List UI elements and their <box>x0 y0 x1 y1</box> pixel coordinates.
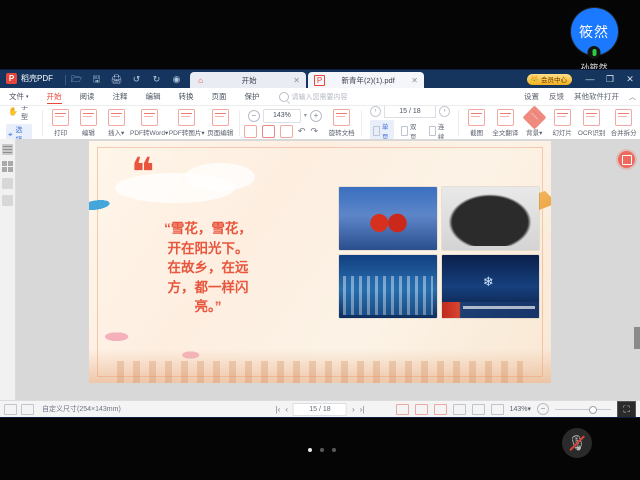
menu-item-read-label: 阅读 <box>80 91 95 102</box>
photo-snowflake-ceremony-news: ❄ <box>442 255 540 318</box>
reading-view-icon[interactable] <box>472 404 485 415</box>
menu-item-convert[interactable]: 转换 <box>170 88 203 105</box>
tool-print[interactable]: 打印 <box>47 109 75 137</box>
menu-item-read[interactable]: 阅读 <box>71 88 104 105</box>
menu-feedback[interactable]: 反馈 <box>549 91 564 102</box>
tool-screenshot-label: 截图 <box>470 127 483 137</box>
photo-group-formation-bw <box>442 187 540 250</box>
fit-width-icon[interactable] <box>21 404 34 415</box>
tool-merge-split-label: 合并拆分 <box>611 127 637 137</box>
menu-item-annotate-label: 注释 <box>113 91 128 102</box>
tab-strip: ⌂ 开始 ✕ P 新青年(2)(1).pdf ✕ <box>190 72 426 88</box>
menu-item-edit[interactable]: 编辑 <box>137 88 170 105</box>
photo-mascot-performance <box>339 187 437 250</box>
avatar-mic-icon <box>588 46 601 59</box>
quote-mark-icon: ❝ <box>131 153 152 193</box>
tool-merge-split[interactable]: 合并拆分 <box>607 109 640 137</box>
tool-slideshow[interactable]: 幻灯片 <box>548 109 576 137</box>
tool-pdf-to-word[interactable]: PDF转Word▾ <box>130 109 168 137</box>
pdf-page[interactable]: ❝ “雪花，雪花， 开在阳光下。 在故乡，在远 方，都一样闪 亮。” <box>89 141 551 383</box>
tool-page-edit-label: 页面编辑 <box>207 127 233 137</box>
tool-pdf-to-word-label: PDF转Word▾ <box>130 127 168 137</box>
tool-translate[interactable]: 全文翻译 <box>490 109 520 137</box>
pdf-to-word-icon <box>141 109 158 126</box>
photo-grid: ❄ <box>339 187 539 318</box>
participant-tile[interactable]: 筱然 孙筱然 <box>558 8 630 74</box>
tool-ocr-label: OCR识别 <box>578 127 605 137</box>
two-page-icon[interactable] <box>491 404 504 415</box>
menu-item-protect[interactable]: 保护 <box>236 88 269 105</box>
microphone-muted-icon: 🎙 <box>567 436 586 451</box>
rotate-cw-icon[interactable]: ↷ <box>310 126 318 137</box>
cloud-decoration <box>185 163 255 191</box>
status-bar: 自定义尺寸(254×143mm) |‹ ‹ 15 / 18 › ›| 143%▾… <box>0 400 640 417</box>
vip-label: 会员中心 <box>541 74 567 84</box>
window-right-group: 👑 会员中心 — ❐ ✕ <box>527 70 640 88</box>
menu-right-group: 设置 反馈 其他软件打开 ︿ <box>524 91 636 102</box>
rotate-doc-icon <box>333 109 350 126</box>
poem-line: 方，都一样闪 <box>141 278 275 298</box>
annotations-icon[interactable] <box>2 178 13 189</box>
chevron-up-icon[interactable]: ︿ <box>629 92 636 102</box>
tool-print-label: 打印 <box>54 127 67 137</box>
next-page-button[interactable]: › <box>352 405 355 414</box>
menu-item-convert-label: 转换 <box>179 91 194 102</box>
app-logo-icon: P <box>6 73 17 84</box>
pagination-dot[interactable] <box>332 448 336 452</box>
status-zoom-out-button[interactable]: − <box>537 403 549 415</box>
tool-translate-label: 全文翻译 <box>492 127 518 137</box>
pink-bird-icon <box>103 329 137 343</box>
avatar-initials: 筱然 <box>579 22 609 42</box>
menu-item-protect-label: 保护 <box>245 91 260 102</box>
search-input[interactable]: 请输入您需要内容 <box>279 92 348 102</box>
page-number-input[interactable]: 15 / 18 <box>384 105 436 118</box>
poem-line: 亮。” <box>141 297 275 317</box>
fullscreen-icon[interactable]: ⛶ <box>617 401 636 418</box>
status-page-nav: |‹ ‹ 15 / 18 › ›| <box>276 403 365 416</box>
crop-view-icon[interactable] <box>434 404 447 415</box>
fit-page-icon[interactable] <box>4 404 17 415</box>
zoom-out-button[interactable]: − <box>248 110 260 122</box>
toolbar-divider <box>42 110 43 136</box>
save-as-fab[interactable] <box>618 151 635 168</box>
tab-close-icon[interactable]: ✕ <box>293 76 300 85</box>
tool-rotate-document-label: 旋转文档 <box>329 127 355 137</box>
chevron-down-icon[interactable]: ▾ <box>304 112 307 119</box>
vertical-scrollbar[interactable] <box>634 327 640 349</box>
ocr-icon <box>583 109 600 126</box>
tab-document-label: 新青年(2)(1).pdf <box>329 75 407 86</box>
search-icon <box>279 92 289 102</box>
last-page-button[interactable]: ›| <box>360 405 365 414</box>
title-bar: P 稻壳PDF 🗁 🖫 🖨 ↺ ↻ ◉ ⌂ 开始 ✕ P <box>0 70 640 88</box>
document-work-area: ❝ “雪花，雪花， 开在阳光下。 在故乡，在远 方，都一样闪 亮。” <box>0 139 640 401</box>
view-mode-continuous-label: 连续 <box>438 121 447 141</box>
tab-home[interactable]: ⌂ 开始 ✕ <box>190 72 306 88</box>
search-placeholder: 请输入您需要内容 <box>292 92 348 102</box>
menu-item-start[interactable]: 开始 <box>38 88 71 105</box>
pagination-dot[interactable] <box>308 448 312 452</box>
photo-choir-blue-stage <box>339 255 437 318</box>
cursor-select-icon: ⌖ <box>8 130 13 140</box>
titlebar-divider <box>65 75 66 85</box>
close-button[interactable]: ✕ <box>620 70 640 88</box>
translate-icon <box>497 109 514 126</box>
menu-item-edit-label: 编辑 <box>146 91 161 102</box>
merge-split-icon <box>615 109 632 126</box>
tool-ocr[interactable]: OCR识别 <box>576 109 607 137</box>
tool-slideshow-label: 幻灯片 <box>552 127 572 137</box>
fit-view-icon[interactable] <box>453 404 466 415</box>
redo-icon[interactable]: ↻ <box>151 74 162 85</box>
menu-item-page[interactable]: 页面 <box>203 88 236 105</box>
page-nav: ‹ 15 / 18 › <box>370 105 450 118</box>
tool-page-edit[interactable]: 页面编辑 <box>205 109 235 137</box>
poem-text: “雪花，雪花， 开在阳光下。 在故乡，在远 方，都一样闪 亮。” <box>141 219 275 317</box>
page-size-label: 自定义尺寸(254×143mm) <box>42 404 121 414</box>
menu-item-file[interactable]: 文件 ▾ <box>0 88 38 105</box>
insert-icon <box>108 109 125 126</box>
hand-icon: ✋ <box>8 107 18 116</box>
view-mode-double-label: 双页 <box>410 121 419 141</box>
menu-settings[interactable]: 设置 <box>524 91 539 102</box>
zoom-in-button[interactable]: + <box>310 110 322 122</box>
tab-document[interactable]: P 新青年(2)(1).pdf ✕ <box>308 72 424 88</box>
toolbar-divider <box>458 110 459 136</box>
slideshow-icon <box>554 109 571 126</box>
save-icon <box>622 155 632 165</box>
single-page-icon <box>373 126 380 136</box>
zoom-value[interactable]: 143% <box>263 109 301 123</box>
microphone-muted-button[interactable]: 🎙 <box>562 428 592 458</box>
cloud-icon[interactable]: ◉ <box>171 74 182 85</box>
pagination-dot[interactable] <box>320 448 324 452</box>
rotate-ccw-icon[interactable]: ↶ <box>298 126 306 137</box>
zoom-controls: − 143% ▾ + <box>244 109 326 123</box>
toolbar-divider <box>239 110 240 136</box>
tool-edit[interactable]: 编辑 <box>74 109 102 137</box>
next-page-button[interactable]: › <box>439 106 450 117</box>
toolbar-divider <box>361 110 362 136</box>
screenshot-icon <box>468 109 485 126</box>
page-navigation-group: ‹ 15 / 18 › 单页 双页 连续 <box>366 105 454 142</box>
print-icon <box>52 109 69 126</box>
vip-center-button[interactable]: 👑 会员中心 <box>527 74 572 85</box>
maximize-button[interactable]: ❐ <box>600 70 620 88</box>
rotate-controls: ↶ ↷ <box>244 125 326 138</box>
pdf-icon: P <box>314 75 325 86</box>
continuous-icon <box>429 126 436 136</box>
minimize-button[interactable]: — <box>580 70 600 88</box>
page-canvas[interactable]: ❝ “雪花，雪花， 开在阳光下。 在故乡，在远 方，都一样闪 亮。” <box>16 139 624 401</box>
tool-screenshot[interactable]: 截图 <box>463 109 491 137</box>
menu-item-annotate[interactable]: 注释 <box>104 88 137 105</box>
undo-icon[interactable]: ↺ <box>131 74 142 85</box>
outline-icon[interactable] <box>2 144 13 155</box>
home-icon: ⌂ <box>196 76 205 85</box>
menu-item-file-label: 文件 <box>9 91 24 102</box>
tool-pdf-to-image-label: PDF转图片▾ <box>169 127 205 137</box>
snowflake-icon: ❄ <box>483 274 494 290</box>
pagination-dots[interactable] <box>308 448 336 452</box>
menu-bar: 文件 ▾ 开始 阅读 注释 编辑 转换 页面 保护 请输入您需要内容 设置 反馈… <box>0 88 640 106</box>
status-zoom-label: 143%▾ <box>510 405 531 413</box>
tool-insert[interactable]: 插入▾ <box>102 109 130 137</box>
tool-edit-label: 编辑 <box>82 127 95 137</box>
rotate-page-icon[interactable] <box>262 125 275 138</box>
app-brand-label: 稻壳PDF <box>21 73 53 84</box>
rotate-page-right-icon[interactable] <box>280 125 293 138</box>
open-file-icon[interactable]: 🗁 <box>71 74 82 85</box>
tool-insert-label: 插入▾ <box>108 127 124 137</box>
poem-line: “雪花，雪花， <box>141 219 275 239</box>
zoom-slider[interactable] <box>555 409 611 410</box>
city-skyline-decoration <box>89 349 551 383</box>
rotate-view-icon[interactable] <box>415 404 428 415</box>
tab-home-label: 开始 <box>209 75 289 86</box>
poem-line: 开在阳光下。 <box>141 239 275 259</box>
zoom-rotate-group: − 143% ▾ + ↶ ↷ <box>244 109 326 138</box>
print-icon[interactable]: 🖨 <box>111 74 122 85</box>
news-ticker <box>442 302 540 318</box>
thumbnails-icon[interactable] <box>2 161 13 172</box>
rotate-page-left-icon[interactable] <box>244 125 257 138</box>
poem-line: 在故乡，在远 <box>141 258 275 278</box>
prev-page-button[interactable]: ‹ <box>285 405 288 414</box>
save-icon[interactable]: 🖫 <box>91 74 102 85</box>
pdf-to-image-icon <box>178 109 195 126</box>
tool-background[interactable]: 背景▾ <box>520 109 548 137</box>
bookmarks-icon[interactable] <box>2 195 13 206</box>
chevron-down-icon: ▾ <box>26 94 29 100</box>
prev-page-button[interactable]: ‹ <box>370 106 381 117</box>
view-mode-single-label: 单页 <box>382 121 391 141</box>
titlebar-quick-actions: 🗁 🖫 🖨 ↺ ↻ ◉ <box>71 74 182 88</box>
menu-item-page-label: 页面 <box>212 91 227 102</box>
page-number-input[interactable]: 15 / 18 <box>293 403 347 416</box>
page-edit-icon <box>212 109 229 126</box>
first-page-button[interactable]: |‹ <box>276 405 281 414</box>
edit-icon <box>80 109 97 126</box>
menu-open-with[interactable]: 其他软件打开 <box>574 91 619 102</box>
left-rail <box>0 139 16 401</box>
toolbar: ✋ 手型 ⌖ 选择 打印 编辑 插入▾ <box>0 106 640 141</box>
app-brand: P 稻壳PDF <box>0 70 60 88</box>
tab-close-icon[interactable]: ✕ <box>411 76 418 85</box>
tool-pdf-to-image[interactable]: PDF转图片▾ <box>168 109 205 137</box>
status-right-group: 143%▾ − ⛶ <box>396 401 636 418</box>
tool-rotate-document[interactable]: 旋转文档 <box>326 109 357 137</box>
crown-icon: 👑 <box>530 75 539 83</box>
avatar: 筱然 <box>571 8 618 55</box>
pdf-app-window: P 稻壳PDF 🗁 🖫 🖨 ↺ ↻ ◉ ⌂ 开始 ✕ P <box>0 70 640 417</box>
page-view-icon[interactable] <box>396 404 409 415</box>
screen: 筱然 孙筱然 P 稻壳PDF 🗁 🖫 🖨 ↺ ↻ ◉ ⌂ <box>0 0 640 480</box>
menu-item-start-label: 开始 <box>47 91 62 102</box>
double-page-icon <box>401 126 408 136</box>
background-icon <box>522 105 546 129</box>
